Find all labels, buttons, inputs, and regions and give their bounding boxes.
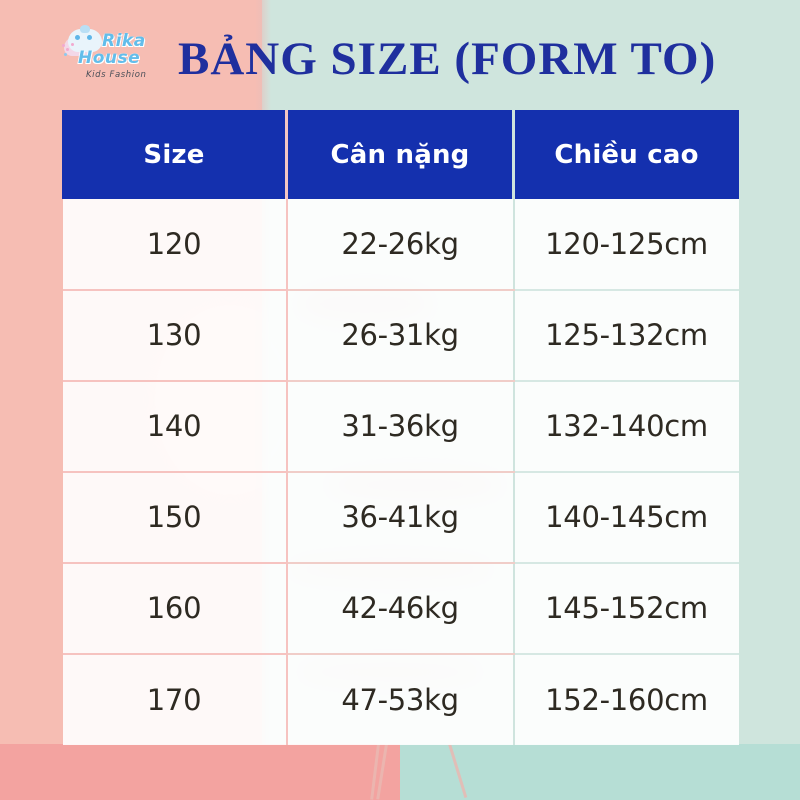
logo-tagline: Kids Fashion xyxy=(86,70,147,80)
brand-logo: Rika House Kids Fashion xyxy=(62,28,158,86)
table-row: 130 26-31kg 125-132cm xyxy=(63,290,739,381)
cell-weight: 22-26kg xyxy=(287,199,514,290)
cell-size: 170 xyxy=(63,654,287,745)
column-header-size: Size xyxy=(63,111,287,199)
page-title: BẢNG SIZE (FORM TO) xyxy=(178,30,738,90)
cell-height: 145-152cm xyxy=(514,563,739,654)
size-table: Size Cân nặng Chiều cao 120 22-26kg 120-… xyxy=(62,110,739,745)
cell-height: 152-160cm xyxy=(514,654,739,745)
sparkle-dots-icon xyxy=(62,44,65,47)
table-row: 120 22-26kg 120-125cm xyxy=(63,199,739,290)
cell-weight: 47-53kg xyxy=(287,654,514,745)
logo-line2: House xyxy=(78,48,140,68)
table-row: 150 36-41kg 140-145cm xyxy=(63,472,739,563)
cell-size: 150 xyxy=(63,472,287,563)
cell-weight: 42-46kg xyxy=(287,563,514,654)
cell-size: 120 xyxy=(63,199,287,290)
table-header-row: Size Cân nặng Chiều cao xyxy=(63,111,739,199)
cell-size: 160 xyxy=(63,563,287,654)
cell-height: 132-140cm xyxy=(514,381,739,472)
size-chart-page: Rika House Kids Fashion BẢNG SIZE (FORM … xyxy=(0,0,800,800)
backdrop-pink-lower xyxy=(0,744,400,800)
cell-height: 125-132cm xyxy=(514,290,739,381)
header-bar: Rika House Kids Fashion BẢNG SIZE (FORM … xyxy=(0,0,800,108)
table-row: 160 42-46kg 145-152cm xyxy=(63,563,739,654)
cell-size: 130 xyxy=(63,290,287,381)
column-header-height: Chiều cao xyxy=(514,111,739,199)
cell-weight: 36-41kg xyxy=(287,472,514,563)
cell-size: 140 xyxy=(63,381,287,472)
cell-height: 120-125cm xyxy=(514,199,739,290)
column-header-weight: Cân nặng xyxy=(287,111,514,199)
table-row: 140 31-36kg 132-140cm xyxy=(63,381,739,472)
table-row: 170 47-53kg 152-160cm xyxy=(63,654,739,745)
cell-weight: 31-36kg xyxy=(287,381,514,472)
cell-weight: 26-31kg xyxy=(287,290,514,381)
backdrop-mint-lower xyxy=(400,744,800,800)
cell-height: 140-145cm xyxy=(514,472,739,563)
